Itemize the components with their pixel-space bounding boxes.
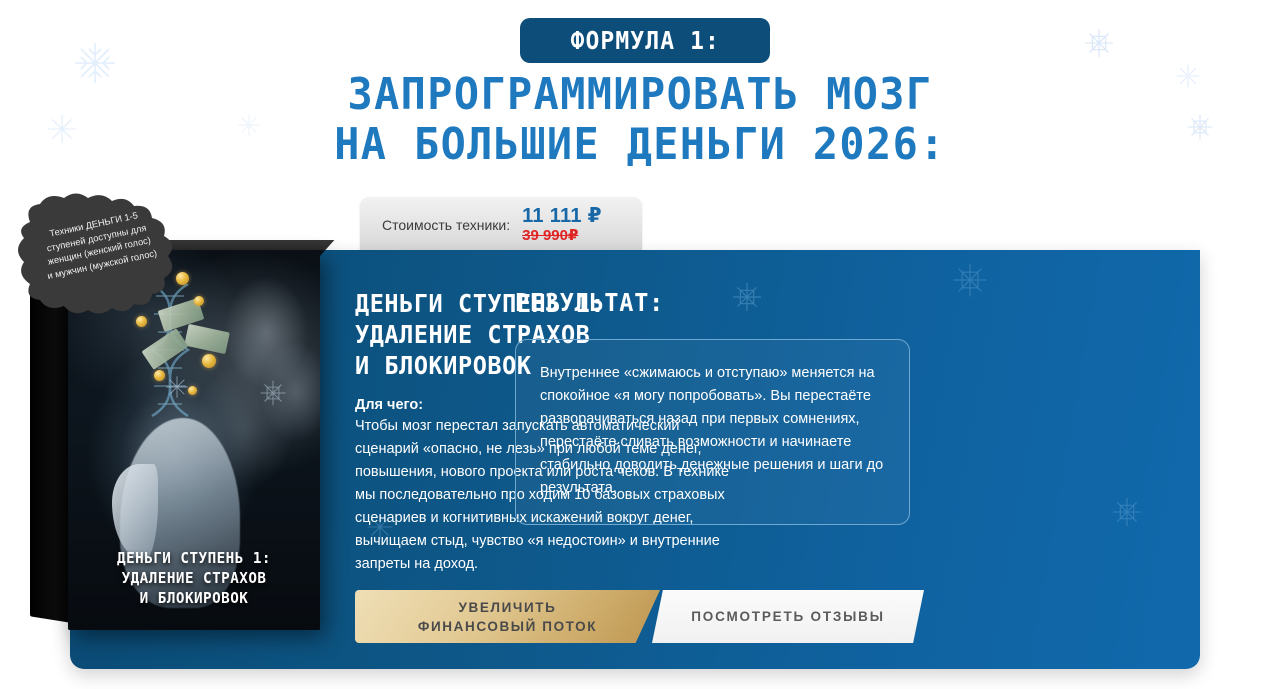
coin-icon (194, 296, 204, 306)
snowflake-icon (1110, 495, 1144, 529)
coin-icon (154, 370, 165, 381)
price-values: 11 111 ₽ 39 990₽ (522, 206, 602, 243)
availability-badge: Техники ДЕНЬГИ 1-5 ступеней доступны для… (14, 192, 182, 314)
price-badge: Стоимость техники: 11 111 ₽ 39 990₽ (360, 197, 642, 252)
coin-icon (202, 354, 216, 368)
view-reviews-button[interactable]: ПОСМОТРЕТЬ ОТЗЫВЫ (652, 590, 924, 643)
snowflake-icon (950, 260, 990, 300)
page-root: ФОРМУЛА 1: ЗАПРОГРАММИРОВАТЬ МОЗГ НА БОЛ… (0, 0, 1280, 689)
formula-badge: ФОРМУЛА 1: (520, 18, 770, 63)
increase-financial-flow-label: УВЕЛИЧИТЬ ФИНАНСОВЫЙ ПОТОК (418, 598, 597, 636)
cta-row: УВЕЛИЧИТЬ ФИНАНСОВЫЙ ПОТОК ПОСМОТРЕТЬ ОТ… (355, 590, 924, 643)
result-description: Внутреннее «сжимаюсь и отступаю» меняетс… (540, 362, 885, 500)
formula-badge-label: ФОРМУЛА 1: (570, 26, 720, 55)
view-reviews-label: ПОСМОТРЕТЬ ОТЗЫВЫ (691, 609, 884, 624)
result-box: Внутреннее «сжимаюсь и отступаю» меняетс… (515, 339, 910, 525)
offer-right-column: РЕЗУЛЬТАТ: Внутреннее «сжимаюсь и отступ… (515, 288, 930, 525)
result-title: РЕЗУЛЬТАТ: (515, 288, 905, 317)
page-title: ЗАПРОГРАММИРОВАТЬ МОЗГ НА БОЛЬШИЕ ДЕНЬГИ… (32, 70, 1248, 170)
increase-financial-flow-button[interactable]: УВЕЛИЧИТЬ ФИНАНСОВЫЙ ПОТОК (355, 590, 660, 643)
price-label: Стоимость техники: (382, 217, 510, 233)
cover-title: ДЕНЬГИ СТУПЕНЬ 1: УДАЛЕНИЕ СТРАХОВ И БЛО… (74, 548, 313, 608)
price-old: 39 990₽ (522, 228, 602, 243)
price-current: 11 111 ₽ (522, 206, 602, 226)
snowflake-icon (1082, 26, 1116, 60)
coin-icon (136, 316, 147, 327)
coin-icon (188, 386, 197, 395)
